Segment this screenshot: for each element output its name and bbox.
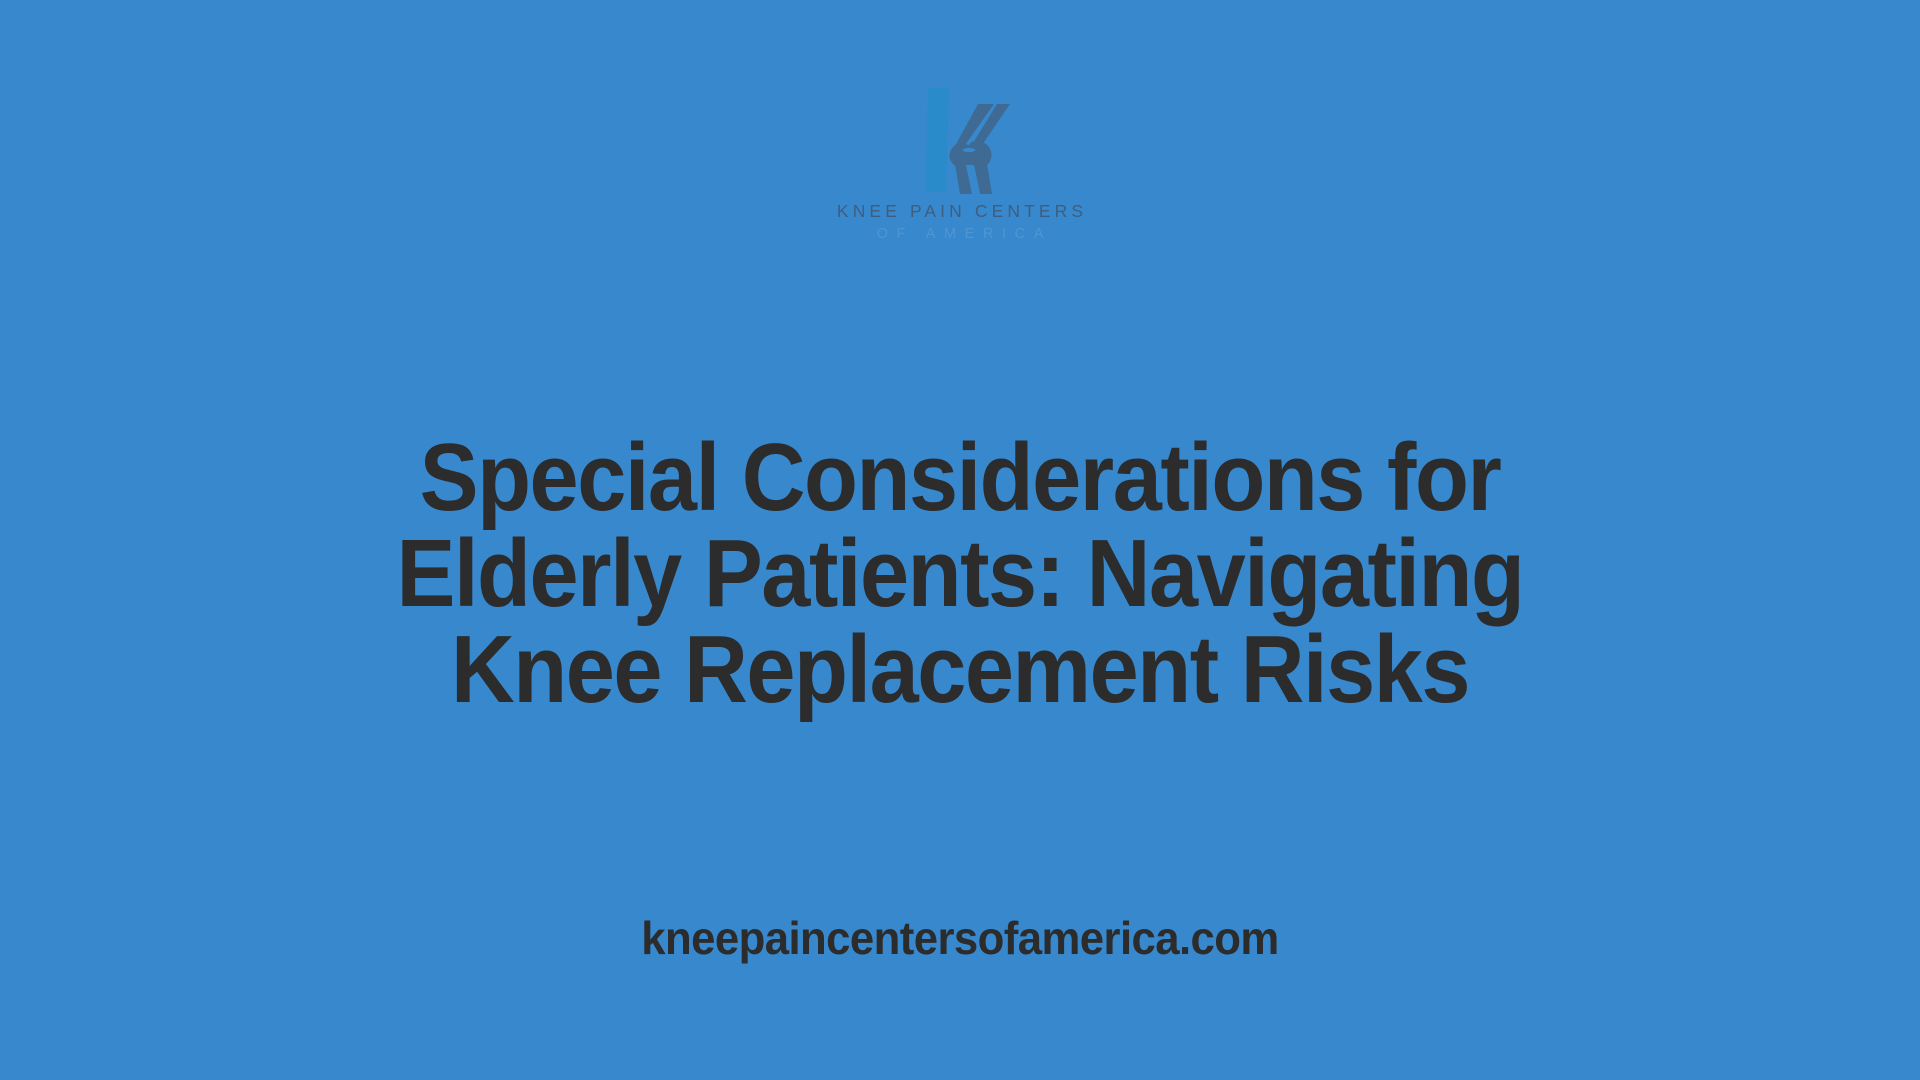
website-url: kneepaincentersofamerica.com	[625, 915, 1296, 961]
knee-joint-k-logo-icon	[902, 86, 1018, 198]
title-line-3: Knee Replacement Risks	[307, 622, 1613, 718]
title-line-1: Special Considerations for	[307, 430, 1613, 526]
brand-lockup: KNEE PAIN CENTERS OF AMERICA	[750, 86, 1170, 241]
brand-subtitle: OF AMERICA	[868, 227, 1052, 242]
title-line-2: Elderly Patients: Navigating	[307, 526, 1613, 622]
title-slide: KNEE PAIN CENTERS OF AMERICA Special Con…	[0, 0, 1920, 1080]
page-title: Special Considerations for Elderly Patie…	[250, 430, 1670, 718]
brand-name: KNEE PAIN CENTERS	[833, 203, 1087, 221]
website-url-text: kneepaincentersofamerica.com	[641, 915, 1278, 961]
